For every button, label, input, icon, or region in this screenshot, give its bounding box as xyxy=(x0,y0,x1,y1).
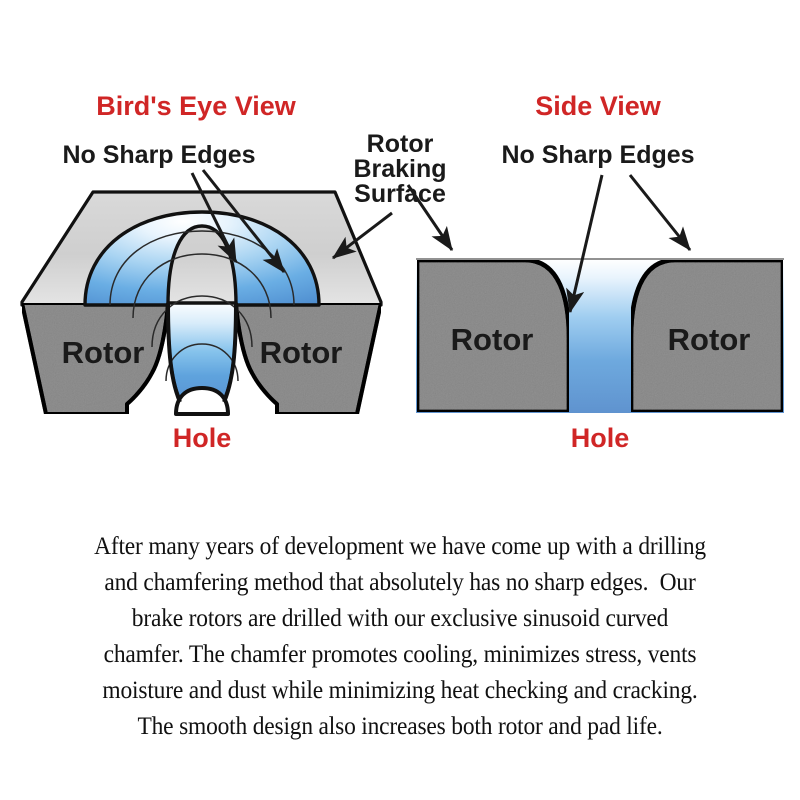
birds-eye-view-group: Bird's Eye View No Sharp Edges Rotor Bra… xyxy=(22,91,447,453)
caption-line-3: brake rotors are drilled with our exclus… xyxy=(32,600,768,636)
side-view-rotor-left-label: Rotor xyxy=(451,322,534,357)
side-view-hole-label: Hole xyxy=(571,423,630,453)
rotor-braking-surface-top-face xyxy=(22,192,381,305)
birds-eye-title: Bird's Eye View xyxy=(96,91,297,121)
rotor-braking-surface-label: Rotor Braking Surface xyxy=(353,130,446,208)
caption-paragraph: After many years of development we have … xyxy=(0,528,800,744)
rotor-braking-surface-line-3: Surface xyxy=(354,180,446,208)
birds-eye-rotor-left-label: Rotor xyxy=(62,335,145,370)
side-view-group: Side View No Sharp Edges Rotor Rotor Hol… xyxy=(408,91,784,453)
rotor-braking-surface-line-1: Rotor xyxy=(367,130,434,158)
side-view-arrow-right xyxy=(630,175,690,250)
side-view-rotor-right-label: Rotor xyxy=(668,322,751,357)
birds-eye-no-sharp-edges-label: No Sharp Edges xyxy=(62,141,255,169)
caption-line-2: and chamfering method that absolutely ha… xyxy=(32,564,768,600)
caption-line-5: moisture and dust while minimizing heat … xyxy=(32,672,768,708)
side-view-no-sharp-edges-label: No Sharp Edges xyxy=(501,141,694,169)
rotor-braking-surface-line-2: Braking xyxy=(353,155,446,183)
birds-eye-hole-label: Hole xyxy=(173,423,232,453)
caption-line-6: The smooth design also increases both ro… xyxy=(32,708,768,744)
caption-line-4: chamfer. The chamfer promotes cooling, m… xyxy=(32,636,768,672)
caption-line-1: After many years of development we have … xyxy=(32,528,768,564)
birds-eye-rotor-right-label: Rotor xyxy=(260,335,343,370)
side-view-title: Side View xyxy=(535,91,662,121)
drilled-hole-opening xyxy=(176,388,228,414)
